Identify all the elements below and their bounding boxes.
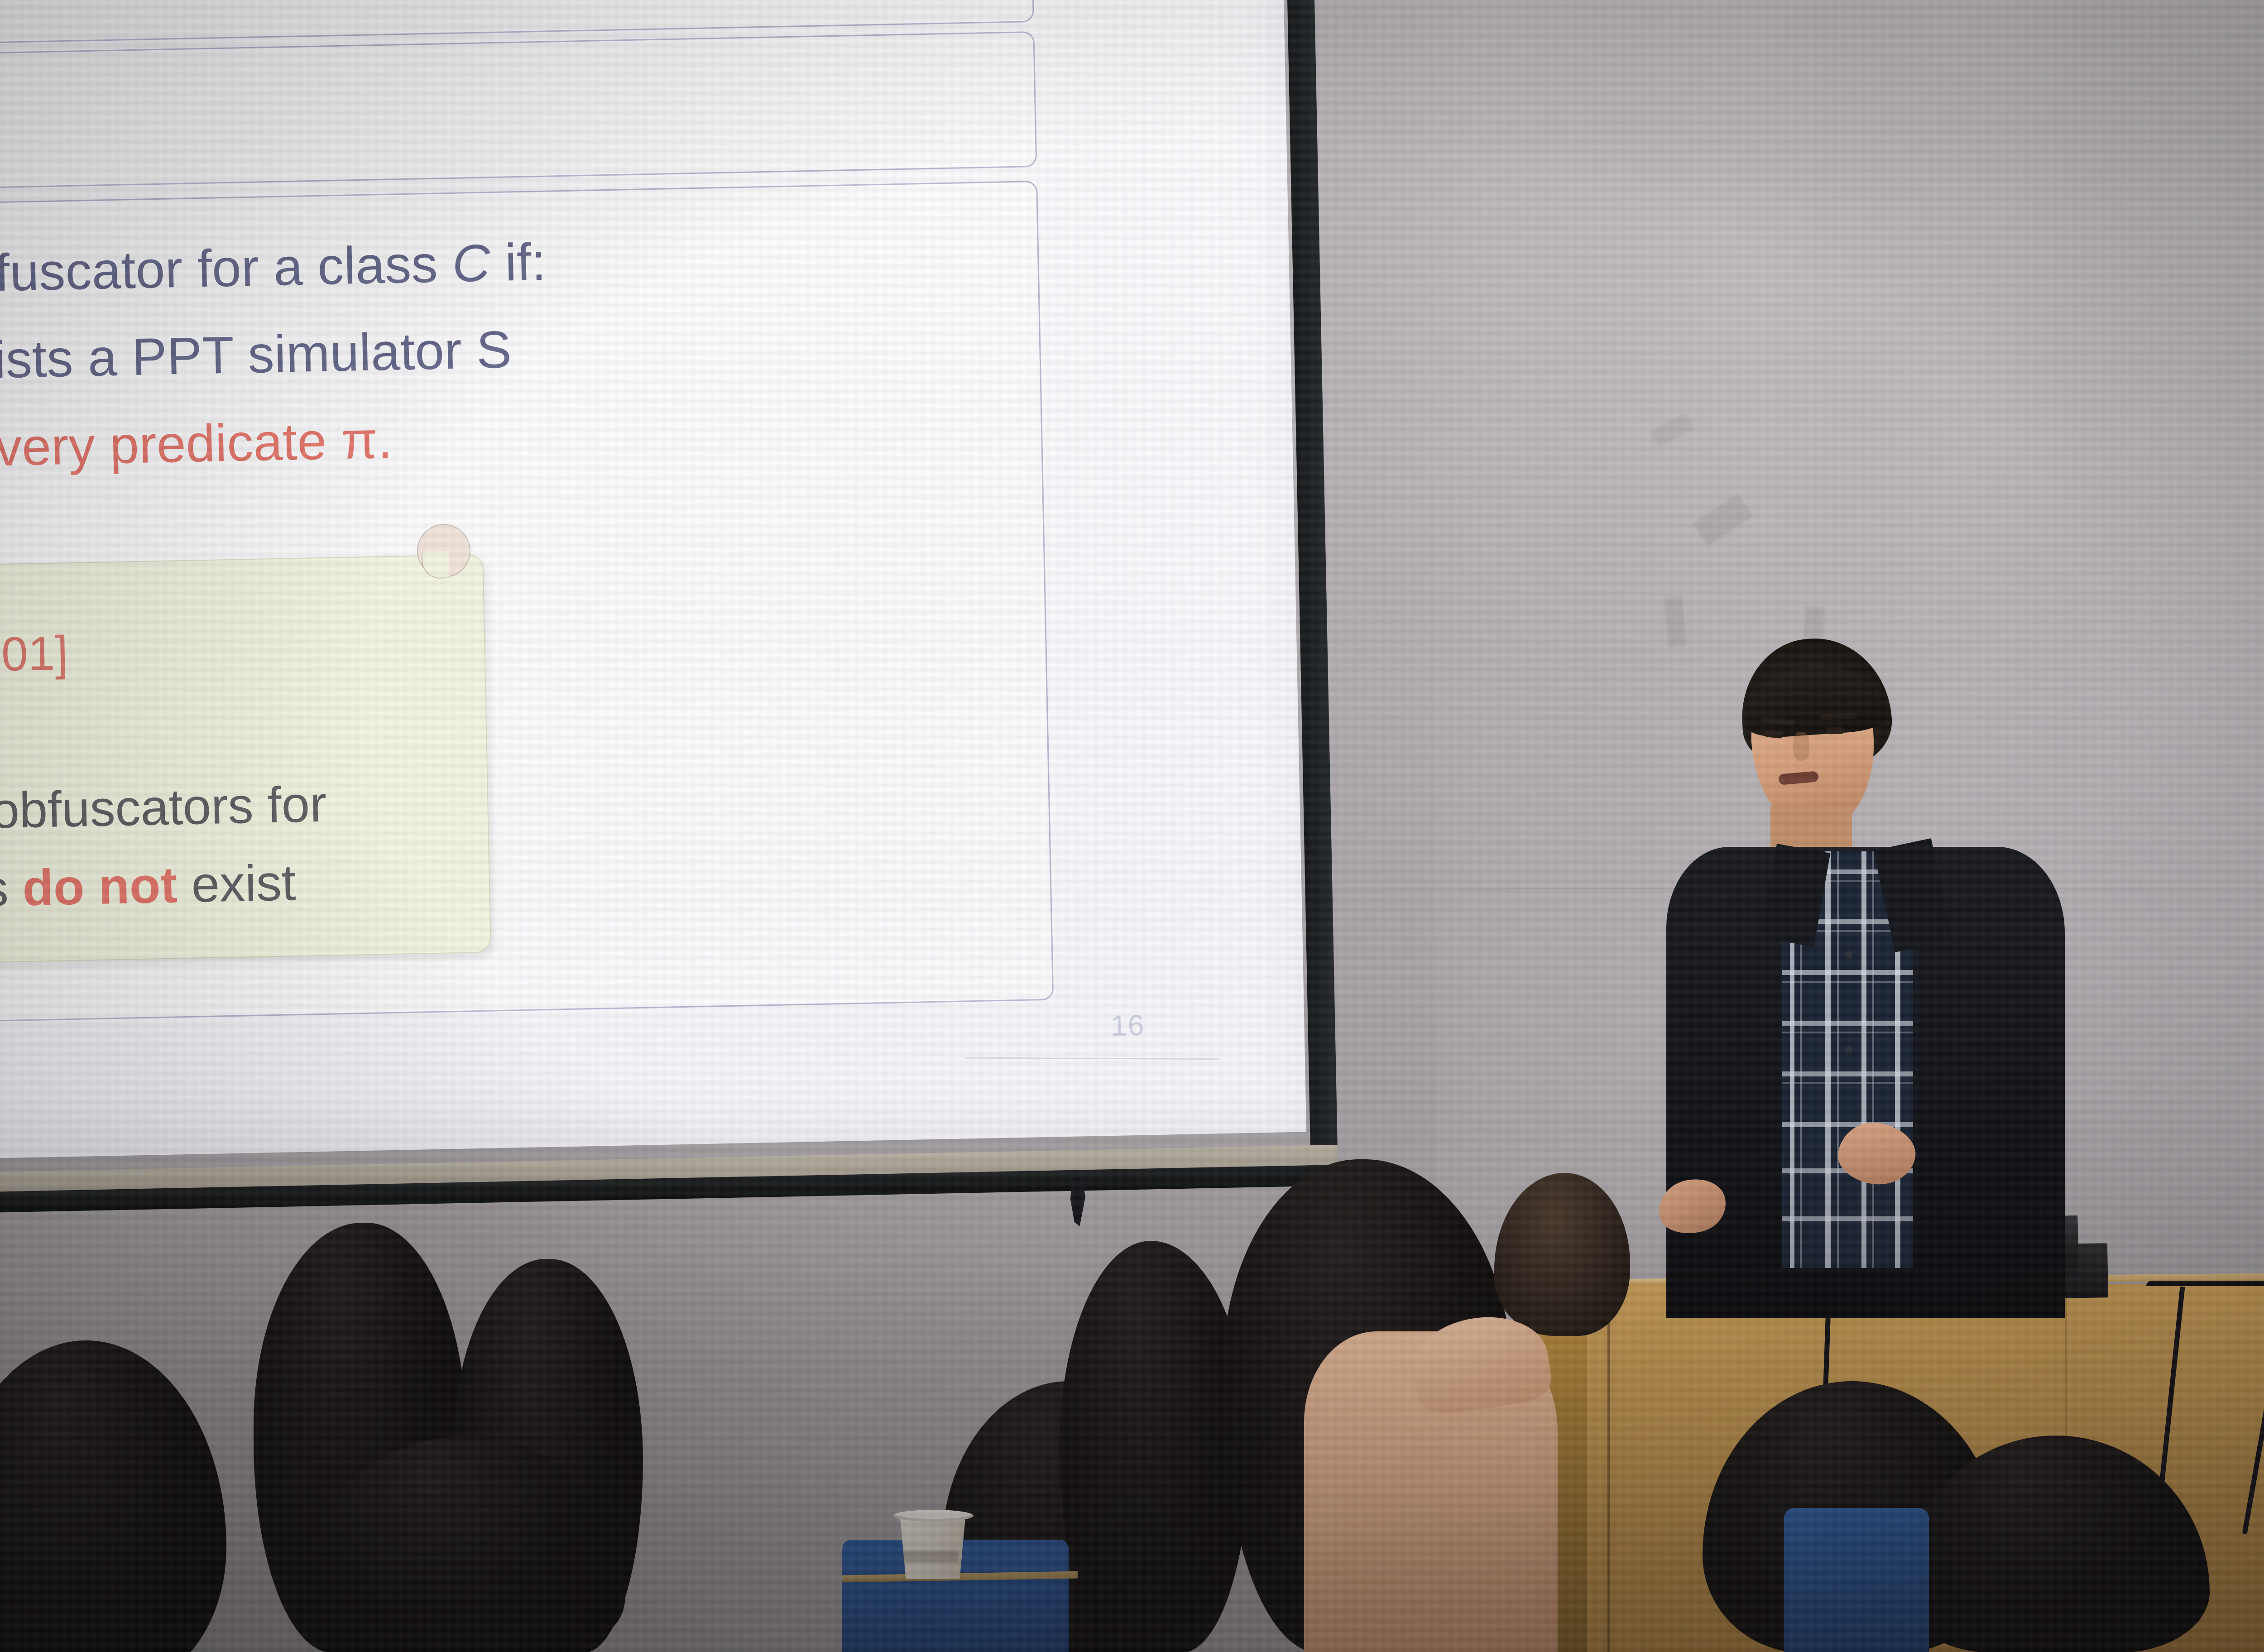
room-bottom-shadow [0, 1090, 2264, 1652]
shirt-button [1845, 1046, 1852, 1053]
presenter-eye [1826, 727, 1845, 735]
projection-screen: the input-output behavior of VBB obfusca… [0, 0, 1339, 1249]
slide-box-middle [0, 31, 1037, 194]
shirt-button [1845, 951, 1852, 958]
lecture-hall-photo: the input-output behavior of VBB obfusca… [0, 0, 2264, 1652]
presenter-nose [1793, 732, 1809, 761]
slide-footer-rule [965, 1057, 1219, 1060]
presentation-slide: the input-output behavior of VBB obfusca… [0, 0, 1306, 1160]
slide-citation: GI+01@Crypto01] [0, 626, 69, 688]
slide-definition-line-3: C and every predicate π. [0, 409, 393, 482]
callout-corner-curl-icon [417, 523, 471, 578]
slide-page-number: 16 [1110, 1008, 1145, 1042]
